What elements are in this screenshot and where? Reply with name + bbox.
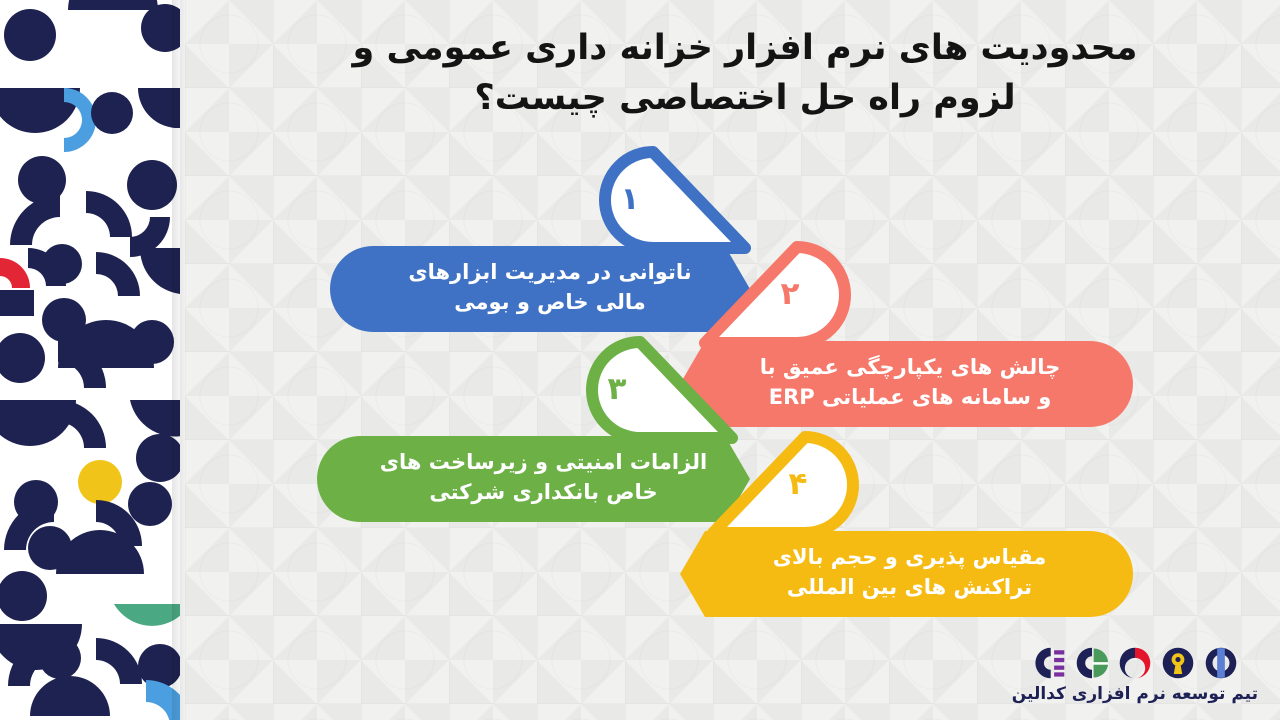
step-1-text-line-1: ناتوانی در مدیریت ابزارهای <box>385 258 715 288</box>
step-3-text-line-2: خاص بانکداری شرکتی <box>371 478 716 508</box>
step-1-text-line-2: مالی خاص و بومی <box>385 288 715 318</box>
step-2-text-line-2: و سامانه های عملیاتی ERP <box>735 383 1085 413</box>
yellow-circle-accent <box>78 460 122 504</box>
page-title-line-2: لزوم راه حل اختصاصی چیست؟ <box>230 74 1260 124</box>
step-3-text: الزامات امنیتی و زیرساخت های خاص بانکدار… <box>371 448 716 508</box>
page-title: محدودیت های نرم افزار خزانه داری عمومی و… <box>230 24 1260 123</box>
step-4-text-line-2: تراکنش های بین المللی <box>737 573 1082 603</box>
bauhaus-pattern-panel <box>0 0 180 720</box>
page-title-line-1: محدودیت های نرم افزار خزانه داری عمومی و <box>230 24 1260 74</box>
footer-brand-text: تیم توسعه نرم افزاری کدالین <box>1012 684 1258 704</box>
step-1-number: ۱ <box>600 184 660 215</box>
footer-brand: تیم توسعه نرم افزاری کدالین <box>1012 646 1258 704</box>
logo-mark-green-icon <box>1075 646 1109 680</box>
step-2-text-line-1: چالش های یکپارچگی عمیق با <box>735 353 1085 383</box>
step-3-text-line-1: الزامات امنیتی و زیرساخت های <box>371 448 716 478</box>
step-1-text: ناتوانی در مدیریت ابزارهای مالی خاص و بو… <box>385 258 715 318</box>
step-4-number: ۴ <box>768 469 828 500</box>
logo-mark-purple-icon <box>1032 646 1066 680</box>
step-2-number: ۲ <box>760 279 820 310</box>
step-3-number: ۳ <box>587 374 647 405</box>
step-4-text: مقیاس پذیری و حجم بالای تراکنش های بین ا… <box>737 543 1082 603</box>
logo-mark-red-icon <box>1118 646 1152 680</box>
logo-mark-blue-icon <box>1204 646 1238 680</box>
bauhaus-pattern-svg <box>0 0 180 720</box>
logo-mark-yellow-icon <box>1161 646 1195 680</box>
step-2-text: چالش های یکپارچگی عمیق با و سامانه های ع… <box>735 353 1085 413</box>
step-4-text-line-1: مقیاس پذیری و حجم بالای <box>737 543 1082 573</box>
footer-logo-group <box>1012 646 1258 680</box>
